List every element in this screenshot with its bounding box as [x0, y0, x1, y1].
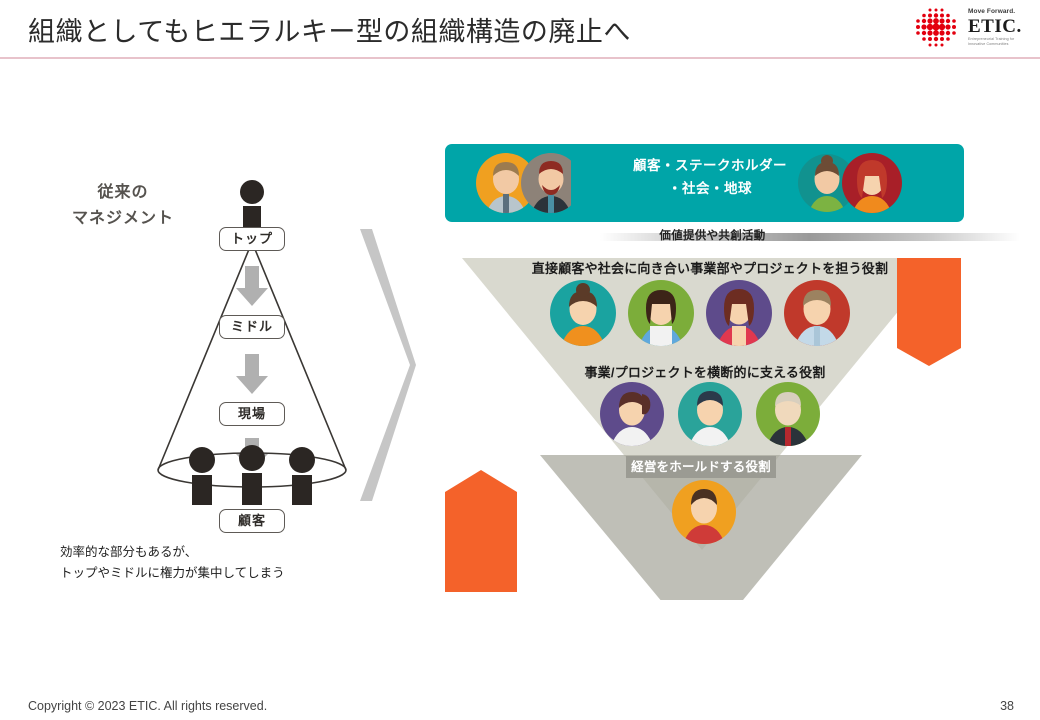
tier1-label: 直接顧客や社会に向き合い事業部やプロジェクトを担う役割 — [500, 258, 920, 277]
legacy-diagram-note: 効率的な部分もあるが、 トップやミドルに権力が集中してしまう — [60, 542, 370, 584]
tier1-avatar-1 — [550, 280, 616, 346]
ribbon-support-nurture — [445, 470, 517, 592]
tier3-avatar-group — [672, 480, 736, 544]
tier3-avatar-1 — [672, 480, 736, 544]
ribbon-nurture-together — [897, 258, 961, 366]
footer-copyright: Copyright © 2023 ETIC. All rights reserv… — [28, 699, 267, 713]
legacy-management-diagram: 従来の マネジメント — [40, 170, 370, 590]
tier3-label: 経営をホールドする役割 — [626, 456, 776, 478]
etic-logo: Move Forward. ETIC. Entrepreneurial Trai… — [914, 6, 1026, 50]
tier2-avatar-2 — [678, 382, 742, 446]
new-organization-diagram: 顧客・ステークホルダー ・社会・地球 価値提供や共創活動 直接顧客や — [440, 140, 980, 600]
tier2-avatar-group — [600, 382, 820, 446]
person-bottom-right-icon — [289, 447, 315, 505]
stakeholder-avatar-1 — [476, 152, 571, 214]
node-customer: 顧客 — [219, 509, 285, 533]
node-middle: ミドル — [219, 315, 285, 339]
value-flow-label: 価値提供や共創活動 — [605, 228, 820, 244]
logo-dot-matrix-icon — [914, 7, 962, 49]
stakeholder-label-line-2: ・社会・地球 — [668, 181, 752, 196]
stakeholder-label-line-1: 顧客・ステークホルダー — [633, 158, 787, 173]
stakeholder-avatar-3 — [797, 152, 902, 214]
tier1-avatar-4 — [784, 280, 850, 346]
person-bottom-left-icon — [189, 447, 215, 505]
transition-arrow-icon — [358, 225, 420, 505]
node-top: トップ — [219, 227, 285, 251]
logo-subline-2: Innovative Communities — [968, 42, 1026, 47]
logo-tagline: Move Forward. — [968, 8, 1026, 16]
tier2-avatar-3 — [756, 382, 820, 446]
slide-root: 組織としてもヒエラルキー型の組織構造の廃止へ Move Forward. ETI… — [0, 0, 1040, 720]
tier1-avatar-2 — [628, 280, 694, 346]
cone-shape — [140, 170, 370, 540]
down-arrow-1 — [236, 266, 268, 306]
header-divider — [0, 57, 1040, 59]
legacy-note-line-1: 効率的な部分もあるが、 — [60, 545, 197, 559]
slide-header: 組織としてもヒエラルキー型の組織構造の廃止へ Move Forward. ETI… — [0, 0, 1040, 58]
legacy-note-line-2: トップやミドルに権力が集中してしまう — [60, 566, 285, 580]
tier1-avatar-3 — [706, 280, 772, 346]
person-bottom-center-icon — [239, 445, 265, 505]
footer-page-number: 38 — [1000, 699, 1014, 713]
tier2-label: 事業/プロジェクトを横断的に支える役割 — [550, 362, 860, 381]
tier1-avatar-group — [550, 280, 850, 346]
logo-name: ETIC. — [968, 16, 1026, 37]
page-title: 組織としてもヒエラルキー型の組織構造の廃止へ — [28, 10, 631, 49]
logo-wordmark: Move Forward. ETIC. Entrepreneurial Trai… — [968, 8, 1026, 46]
node-front-line: 現場 — [219, 402, 285, 426]
stakeholder-label: 顧客・ステークホルダー ・社会・地球 — [610, 154, 810, 200]
person-top-icon — [240, 180, 264, 228]
tier2-avatar-1 — [600, 382, 664, 446]
down-arrow-2 — [236, 354, 268, 394]
